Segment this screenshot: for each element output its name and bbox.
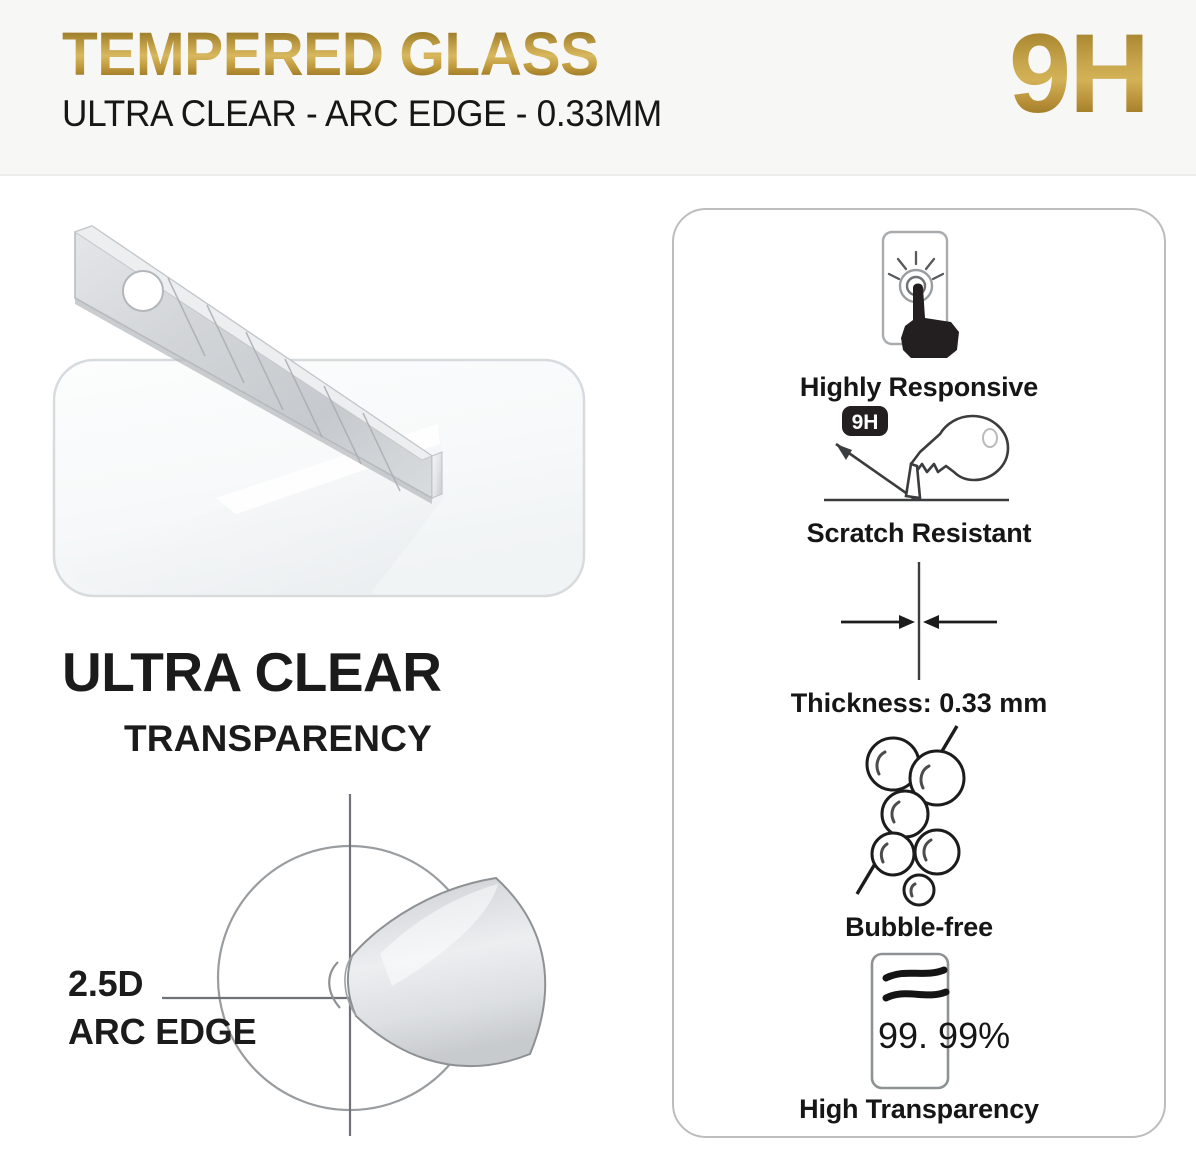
ultra-clear-text-block: ULTRA CLEAR TRANSPARENCY: [62, 644, 602, 760]
key-shape: [911, 416, 1008, 480]
feature-label-highly-responsive: Highly Responsive: [674, 372, 1164, 403]
feature-label-bubble-free: Bubble-free: [674, 912, 1164, 943]
feature-thickness: Thickness: 0.33 mm: [674, 560, 1164, 719]
touch-screen-icon: [839, 224, 999, 372]
arc-edge-label-line2: ARC EDGE: [68, 1008, 256, 1056]
left-column: ULTRA CLEAR TRANSPARENCY: [0, 176, 648, 1161]
blade-mounting-hole: [123, 271, 163, 311]
arrow-left: [923, 615, 997, 629]
arrow-right: [841, 615, 915, 629]
bubble-cluster: [867, 738, 964, 905]
deflection-arrow: [836, 444, 916, 500]
feature-label-high-transparency: High Transparency: [674, 1094, 1164, 1125]
tempered-glass-product-infographic: TEMPERED GLASS ULTRA CLEAR - ARC EDGE - …: [0, 0, 1196, 1161]
svg-text:9H: 9H: [852, 411, 879, 434]
thickness-arrows-icon-wrap: [674, 560, 1164, 688]
features-panel: Highly Responsive 9H: [672, 208, 1166, 1138]
product-title: TEMPERED GLASS: [62, 24, 668, 85]
transparency-screen-icon: 99. 99%: [794, 950, 1044, 1094]
header-banner: TEMPERED GLASS ULTRA CLEAR - ARC EDGE - …: [0, 0, 1196, 176]
feature-highly-responsive: Highly Responsive: [674, 224, 1164, 403]
feature-high-transparency: 99. 99% High Transparency: [674, 950, 1164, 1125]
feature-bubble-free: Bubble-free: [674, 722, 1164, 943]
arc-edge-figure: 2.5D ARC EDGE: [20, 786, 640, 1136]
product-subtitle: ULTRA CLEAR - ARC EDGE - 0.33MM: [62, 93, 662, 135]
arc-edge-nose: [329, 962, 340, 1008]
feature-label-scratch-resistant: Scratch Resistant: [674, 518, 1164, 549]
key-bouncing-icon-wrap: 9H: [674, 400, 1164, 518]
bubbles-crossed-icon: [809, 722, 1029, 912]
transparency-icon-wrap: 99. 99%: [674, 950, 1164, 1094]
arc-edge-label-line1: 2.5D: [68, 960, 256, 1008]
bubbles-icon-wrap: [674, 722, 1164, 912]
transparency-percent-value: 99. 99%: [878, 1015, 1010, 1056]
blade-on-glass-figure: [40, 198, 610, 618]
key-bouncing-9h-icon: 9H: [794, 400, 1044, 518]
blade-glass-illustration: [40, 198, 610, 618]
ultra-clear-headline: ULTRA CLEAR: [62, 644, 602, 702]
transparency-subhead: TRANSPARENCY: [124, 718, 602, 760]
touch-screen-icon-wrap: [674, 224, 1164, 372]
hardness-badge-9h: 9H: [1009, 18, 1148, 130]
feature-label-thickness: Thickness: 0.33 mm: [674, 688, 1164, 719]
feature-scratch-resistant: 9H: [674, 400, 1164, 549]
header-text-group: TEMPERED GLASS ULTRA CLEAR - ARC EDGE - …: [62, 24, 694, 135]
arc-edge-label: 2.5D ARC EDGE: [68, 960, 256, 1055]
badge-9h-small: 9H: [842, 406, 888, 436]
thickness-arrows-icon: [779, 560, 1059, 688]
